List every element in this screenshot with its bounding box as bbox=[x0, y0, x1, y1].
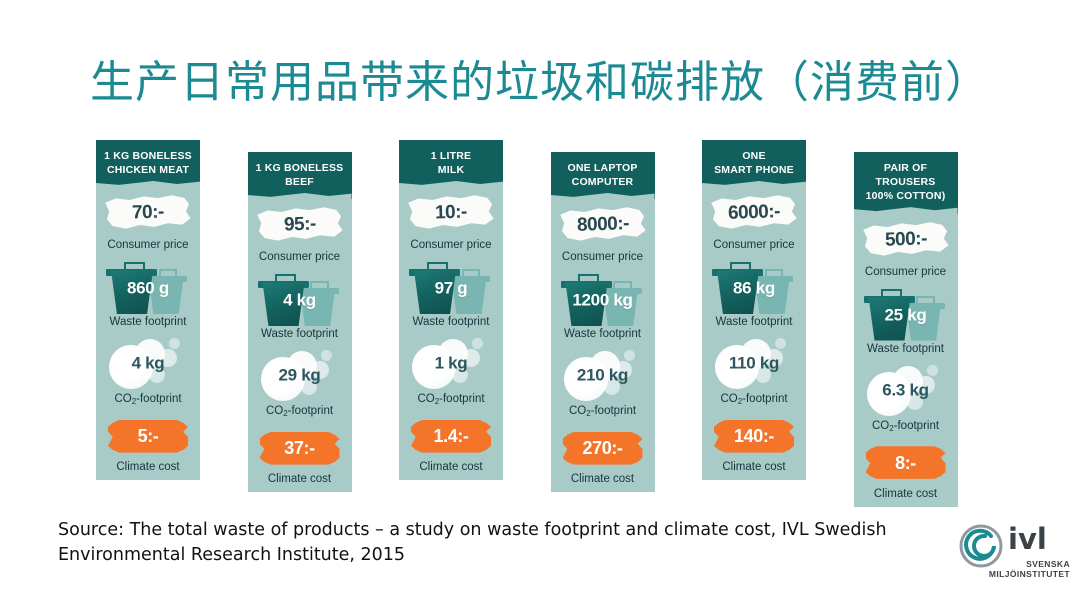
climate-cost-cell: 1.4:-Climate cost bbox=[399, 413, 503, 480]
column-header-line2: CHICKEN MEAT bbox=[100, 163, 196, 177]
price-tag-icon: 95:- bbox=[248, 199, 352, 249]
co2-footprint-cell: 29 kgCO2-footprint bbox=[248, 347, 352, 425]
cloud-icon: 110 kg bbox=[702, 335, 806, 391]
consumer-price-value: 70:- bbox=[132, 202, 164, 222]
climate-cost-label: Climate cost bbox=[96, 459, 200, 480]
product-column: 1 KG BONELESSCHICKEN MEAT70:-Consumer pr… bbox=[96, 140, 200, 480]
waste-footprint-label: Waste footprint bbox=[399, 314, 503, 335]
trash-bin-icon: 4 kg bbox=[248, 270, 352, 326]
column-header-line1: 1 KG BONELESS bbox=[252, 161, 348, 175]
waste-footprint-cell: 86 kgWaste footprint bbox=[702, 258, 806, 335]
co2-footprint-value: 4 kg bbox=[105, 354, 191, 374]
climate-cost-label: Climate cost bbox=[248, 471, 352, 492]
waste-footprint-label: Waste footprint bbox=[702, 314, 806, 335]
cloud-icon: 210 kg bbox=[551, 347, 655, 403]
consumer-price-cell: 500:-Consumer price bbox=[854, 214, 958, 285]
source-note: Source: The total waste of products – a … bbox=[58, 518, 958, 569]
consumer-price-label: Consumer price bbox=[248, 249, 352, 270]
climate-cost-label: Climate cost bbox=[551, 471, 655, 492]
column-header: ONE LAPTOPCOMPUTER bbox=[551, 152, 655, 199]
climate-cost-tag-icon: 5:- bbox=[96, 413, 200, 459]
co2-footprint-value: 110 kg bbox=[711, 354, 797, 374]
consumer-price-value: 500:- bbox=[884, 228, 926, 248]
column-header: PAIR OF TROUSERS100% COTTON) bbox=[854, 152, 958, 214]
co2-footprint-label: CO2-footprint bbox=[854, 418, 958, 440]
cloud-icon: 4 kg bbox=[96, 335, 200, 391]
consumer-price-label: Consumer price bbox=[551, 249, 655, 270]
co2-footprint-label: CO2-footprint bbox=[702, 391, 806, 413]
column-header: 1 KG BONELESSBEEF bbox=[248, 152, 352, 199]
consumer-price-cell: 6000:-Consumer price bbox=[702, 187, 806, 258]
consumer-price-cell: 10:-Consumer price bbox=[399, 187, 503, 258]
infographic-strip: 1 KG BONELESSCHICKEN MEAT70:-Consumer pr… bbox=[96, 140, 984, 510]
climate-cost-cell: 5:-Climate cost bbox=[96, 413, 200, 480]
cloud-icon: 29 kg bbox=[248, 347, 352, 403]
trash-bin-icon: 860 g bbox=[96, 258, 200, 314]
co2-footprint-label: CO2-footprint bbox=[96, 391, 200, 413]
co2-footprint-label: CO2-footprint bbox=[551, 403, 655, 425]
trash-bin-icon: 1200 kg bbox=[551, 270, 655, 326]
price-tag-icon: 500:- bbox=[854, 214, 958, 264]
consumer-price-value: 8000:- bbox=[576, 214, 629, 235]
climate-cost-value: 37:- bbox=[284, 439, 314, 457]
consumer-price-value: 10:- bbox=[435, 202, 467, 222]
climate-cost-tag-icon: 270:- bbox=[551, 425, 655, 471]
product-column: ONE LAPTOPCOMPUTER8000:-Consumer price12… bbox=[551, 152, 655, 492]
waste-footprint-value: 4 kg bbox=[257, 291, 343, 311]
column-header-line1: PAIR OF TROUSERS bbox=[858, 161, 954, 189]
waste-footprint-value: 1200 kg bbox=[560, 291, 646, 311]
column-header-line1: ONE bbox=[706, 149, 802, 163]
waste-footprint-label: Waste footprint bbox=[551, 326, 655, 347]
cloud-icon: 6.3 kg bbox=[854, 362, 958, 418]
trash-bin-icon: 97 g bbox=[399, 258, 503, 314]
co2-footprint-cell: 110 kgCO2-footprint bbox=[702, 335, 806, 413]
ivl-wordmark: ivl bbox=[1008, 525, 1047, 554]
column-header: 1 KG BONELESSCHICKEN MEAT bbox=[96, 140, 200, 187]
column-header-line2: BEEF bbox=[252, 175, 348, 189]
column-header-line2: 100% COTTON) bbox=[858, 189, 954, 203]
product-column: PAIR OF TROUSERS100% COTTON)500:-Consume… bbox=[854, 152, 958, 507]
consumer-price-cell: 95:-Consumer price bbox=[248, 199, 352, 270]
waste-footprint-value: 86 kg bbox=[711, 279, 797, 299]
consumer-price-label: Consumer price bbox=[702, 237, 806, 258]
climate-cost-label: Climate cost bbox=[854, 486, 958, 507]
co2-footprint-cell: 210 kgCO2-footprint bbox=[551, 347, 655, 425]
column-header-line1: 1 KG BONELESS bbox=[100, 149, 196, 163]
waste-footprint-cell: 97 gWaste footprint bbox=[399, 258, 503, 335]
climate-cost-tag-icon: 8:- bbox=[854, 440, 958, 486]
co2-footprint-value: 1 kg bbox=[408, 354, 494, 374]
co2-footprint-cell: 1 kgCO2-footprint bbox=[399, 335, 503, 413]
product-column: 1 LITREMILK10:-Consumer price97 gWaste f… bbox=[399, 140, 503, 480]
climate-cost-value: 5:- bbox=[138, 427, 159, 445]
climate-cost-tag-icon: 140:- bbox=[702, 413, 806, 459]
waste-footprint-value: 25 kg bbox=[863, 305, 949, 325]
climate-cost-tag-icon: 1.4:- bbox=[399, 413, 503, 459]
climate-cost-tag-icon: 37:- bbox=[248, 425, 352, 471]
consumer-price-label: Consumer price bbox=[854, 264, 958, 285]
ivl-logo: ivl SVENSKA MILJÖINSTITUTET bbox=[958, 521, 1070, 593]
ivl-sub-miljoinstitutet: MILJÖINSTITUTET bbox=[958, 569, 1070, 579]
trash-bin-icon: 86 kg bbox=[702, 258, 806, 314]
climate-cost-cell: 37:-Climate cost bbox=[248, 425, 352, 492]
price-tag-icon: 10:- bbox=[399, 187, 503, 237]
product-column: ONESMART PHONE6000:-Consumer price86 kgW… bbox=[702, 140, 806, 480]
consumer-price-value: 6000:- bbox=[728, 202, 781, 223]
waste-footprint-cell: 860 gWaste footprint bbox=[96, 258, 200, 335]
consumer-price-cell: 8000:-Consumer price bbox=[551, 199, 655, 270]
column-header-line1: 1 LITRE bbox=[403, 149, 499, 163]
product-column: 1 KG BONELESSBEEF95:-Consumer price4 kgW… bbox=[248, 152, 352, 492]
climate-cost-label: Climate cost bbox=[399, 459, 503, 480]
climate-cost-value: 140:- bbox=[734, 427, 774, 445]
climate-cost-value: 8:- bbox=[895, 454, 916, 472]
climate-cost-label: Climate cost bbox=[702, 459, 806, 480]
trash-bin-icon: 25 kg bbox=[854, 285, 958, 341]
consumer-price-label: Consumer price bbox=[96, 237, 200, 258]
column-header-line2: SMART PHONE bbox=[706, 163, 802, 177]
climate-cost-value: 1.4:- bbox=[433, 427, 468, 445]
column-header: 1 LITREMILK bbox=[399, 140, 503, 187]
waste-footprint-cell: 1200 kgWaste footprint bbox=[551, 270, 655, 347]
waste-footprint-label: Waste footprint bbox=[854, 341, 958, 362]
waste-footprint-value: 97 g bbox=[408, 279, 494, 299]
slide-canvas: 生产日常用品带来的垃圾和碳排放（消费前） 1 KG BONELESSCHICKE… bbox=[0, 0, 1080, 608]
column-header-line2: COMPUTER bbox=[555, 175, 651, 189]
column-header-line2: MILK bbox=[403, 163, 499, 177]
climate-cost-cell: 270:-Climate cost bbox=[551, 425, 655, 492]
column-header-line1: ONE LAPTOP bbox=[555, 161, 651, 175]
waste-footprint-cell: 25 kgWaste footprint bbox=[854, 285, 958, 362]
co2-footprint-value: 29 kg bbox=[257, 366, 343, 386]
co2-footprint-cell: 6.3 kgCO2-footprint bbox=[854, 362, 958, 440]
co2-footprint-value: 210 kg bbox=[560, 366, 646, 386]
consumer-price-cell: 70:-Consumer price bbox=[96, 187, 200, 258]
waste-footprint-label: Waste footprint bbox=[96, 314, 200, 335]
consumer-price-label: Consumer price bbox=[399, 237, 503, 258]
price-tag-icon: 8000:- bbox=[551, 199, 655, 249]
climate-cost-cell: 140:-Climate cost bbox=[702, 413, 806, 480]
column-header: ONESMART PHONE bbox=[702, 140, 806, 187]
co2-footprint-cell: 4 kgCO2-footprint bbox=[96, 335, 200, 413]
co2-footprint-value: 6.3 kg bbox=[863, 380, 949, 400]
ivl-sub-svenska: SVENSKA bbox=[958, 559, 1070, 569]
page-title: 生产日常用品带来的垃圾和碳排放（消费前） bbox=[0, 58, 1080, 109]
price-tag-icon: 70:- bbox=[96, 187, 200, 237]
waste-footprint-cell: 4 kgWaste footprint bbox=[248, 270, 352, 347]
cloud-icon: 1 kg bbox=[399, 335, 503, 391]
climate-cost-cell: 8:-Climate cost bbox=[854, 440, 958, 507]
climate-cost-value: 270:- bbox=[582, 439, 622, 457]
waste-footprint-value: 860 g bbox=[105, 279, 191, 299]
co2-footprint-label: CO2-footprint bbox=[248, 403, 352, 425]
waste-footprint-label: Waste footprint bbox=[248, 326, 352, 347]
price-tag-icon: 6000:- bbox=[702, 187, 806, 237]
co2-footprint-label: CO2-footprint bbox=[399, 391, 503, 413]
consumer-price-value: 95:- bbox=[283, 214, 315, 234]
